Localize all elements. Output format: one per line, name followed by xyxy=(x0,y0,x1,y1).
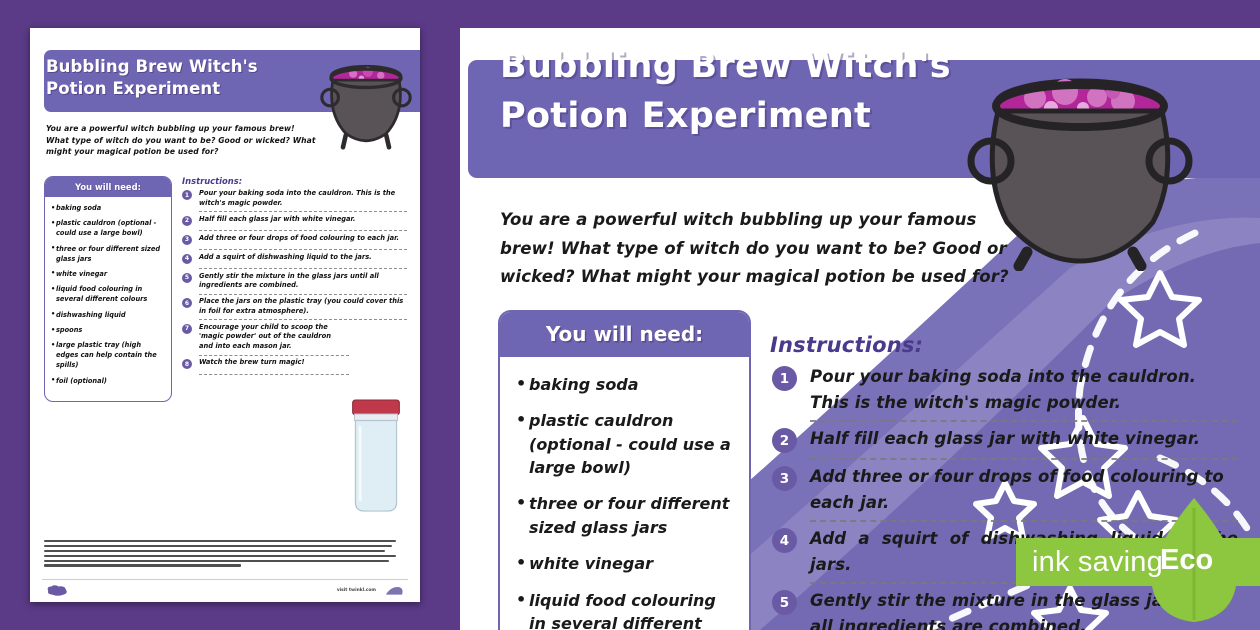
list-item: three or four different sized glass jars xyxy=(51,245,164,265)
thumbnail-step: 7Encourage your child to scoop the 'magi… xyxy=(182,323,332,352)
cauldron-icon xyxy=(320,56,412,152)
resource-thumbnail-preview[interactable]: Bubbling Brew Witch's Potion Experiment … xyxy=(30,28,420,602)
step-divider xyxy=(199,249,407,250)
list-item: liquid food colouring in several differe… xyxy=(51,285,164,305)
step-number: 6 xyxy=(182,298,192,308)
step-number: 4 xyxy=(182,254,192,264)
step-divider xyxy=(199,319,407,320)
step-divider xyxy=(199,355,349,356)
eco-label: Eco xyxy=(1160,544,1213,577)
list-item: white vinegar xyxy=(51,270,164,280)
materials-box: You will need: baking soda plastic cauld… xyxy=(498,310,751,630)
list-item: baking soda xyxy=(516,373,735,396)
materials-heading: You will need: xyxy=(500,312,749,357)
secondary-logo-icon xyxy=(382,584,406,597)
cauldron-icon xyxy=(965,56,1195,271)
thumbnail-step: 1Pour your baking soda into the cauldron… xyxy=(182,189,407,209)
list-item: dishwashing liquid xyxy=(51,311,164,321)
thumbnail-footer-label: visit twinkl.com xyxy=(337,588,376,593)
step-number: 5 xyxy=(772,590,797,615)
brand-logo-icon xyxy=(44,584,70,597)
step-number: 1 xyxy=(182,190,192,200)
page-title-line-1: Bubbling Brew Witch's xyxy=(500,42,1020,92)
step-text: Add a squirt of dishwashing liquid to th… xyxy=(199,253,407,263)
step-text: Half fill each glass jar with white vine… xyxy=(810,426,1238,452)
thumbnail-step: 6Place the jars on the plastic tray (you… xyxy=(182,297,407,317)
step-divider xyxy=(199,230,407,231)
thumbnail-step: 4Add a squirt of dishwashing liquid to t… xyxy=(182,253,407,266)
step-number: 2 xyxy=(772,428,797,453)
list-item: spoons xyxy=(51,326,164,336)
thumbnail-footer-text xyxy=(44,540,396,569)
step-text: Place the jars on the plastic tray (you … xyxy=(199,297,407,317)
instructions-heading: Instructions: xyxy=(770,333,1238,357)
step-number: 3 xyxy=(772,466,797,491)
step-divider xyxy=(199,374,349,375)
list-item: large plastic tray (high edges can help … xyxy=(51,341,164,371)
step-divider xyxy=(810,420,1238,422)
list-item: liquid food colouring in several differe… xyxy=(516,589,735,630)
step-text: Pour your baking soda into the cauldron.… xyxy=(810,364,1238,416)
list-item: baking soda xyxy=(51,204,164,214)
mason-jar-icon xyxy=(348,398,404,514)
step-text: Half fill each glass jar with white vine… xyxy=(199,215,407,225)
step-divider xyxy=(199,268,407,269)
step-divider xyxy=(199,294,407,295)
thumbnail-instructions: Instructions: 1Pour your baking soda int… xyxy=(182,176,407,377)
list-item: white vinegar xyxy=(516,552,735,575)
step-number: 2 xyxy=(182,216,192,226)
materials-list: baking soda plastic cauldron (optional -… xyxy=(500,357,749,630)
list-item: plastic cauldron (optional - could use a… xyxy=(51,219,164,239)
step-text: Add three or four drops of food colourin… xyxy=(199,234,407,244)
page-title: Bubbling Brew Witch's Potion Experiment xyxy=(500,42,1020,141)
thumbnail-materials-list: baking soda plastic cauldron (optional -… xyxy=(45,197,171,401)
step-text: Encourage your child to scoop the 'magic… xyxy=(199,323,332,352)
step-text: Pour your baking soda into the cauldron.… xyxy=(199,189,407,209)
step-number: 1 xyxy=(772,366,797,391)
screenshot-stage: Bubbling Brew Witch's Potion Experiment … xyxy=(0,0,1260,630)
step-text: Watch the brew turn magic! xyxy=(199,358,407,368)
step-divider xyxy=(810,458,1238,460)
list-item: plastic cauldron (optional - could use a… xyxy=(516,409,735,479)
thumbnail-step: 3Add three or four drops of food colouri… xyxy=(182,234,407,247)
intro-paragraph: You are a powerful witch bubbling up you… xyxy=(500,206,1010,292)
thumbnail-instructions-heading: Instructions: xyxy=(182,176,407,186)
resource-main-preview[interactable]: Bubbling Brew Witch's Potion Experiment … xyxy=(460,28,1260,630)
step-number: 5 xyxy=(182,273,192,283)
thumbnail-materials-heading: You will need: xyxy=(45,177,171,197)
instruction-step: 1 Pour your baking soda into the cauldro… xyxy=(770,364,1238,416)
page-title-line-2: Potion Experiment xyxy=(500,92,1020,142)
list-item: three or four different sized glass jars xyxy=(516,492,735,539)
ink-saving-label: ink saving xyxy=(1032,546,1163,579)
thumbnail-footer-divider xyxy=(42,579,408,580)
instruction-step: 2 Half fill each glass jar with white vi… xyxy=(770,426,1238,454)
thumbnail-materials-box: You will need: baking soda plastic cauld… xyxy=(44,176,172,402)
thumbnail-step: 5Gently stir the mixture in the glass ja… xyxy=(182,272,407,292)
step-number: 4 xyxy=(772,528,797,553)
step-number: 7 xyxy=(182,324,192,334)
list-item: foil (optional) xyxy=(51,377,164,387)
step-divider xyxy=(199,211,407,212)
thumbnail-title: Bubbling Brew Witch's Potion Experiment xyxy=(46,56,334,100)
thumbnail-step: 8Watch the brew turn magic! xyxy=(182,358,407,371)
step-number: 8 xyxy=(182,359,192,369)
thumbnail-step: 2Half fill each glass jar with white vin… xyxy=(182,215,407,228)
thumbnail-intro-text: You are a powerful witch bubbling up you… xyxy=(46,123,318,158)
step-number: 3 xyxy=(182,235,192,245)
step-text: Gently stir the mixture in the glass jar… xyxy=(199,272,407,292)
